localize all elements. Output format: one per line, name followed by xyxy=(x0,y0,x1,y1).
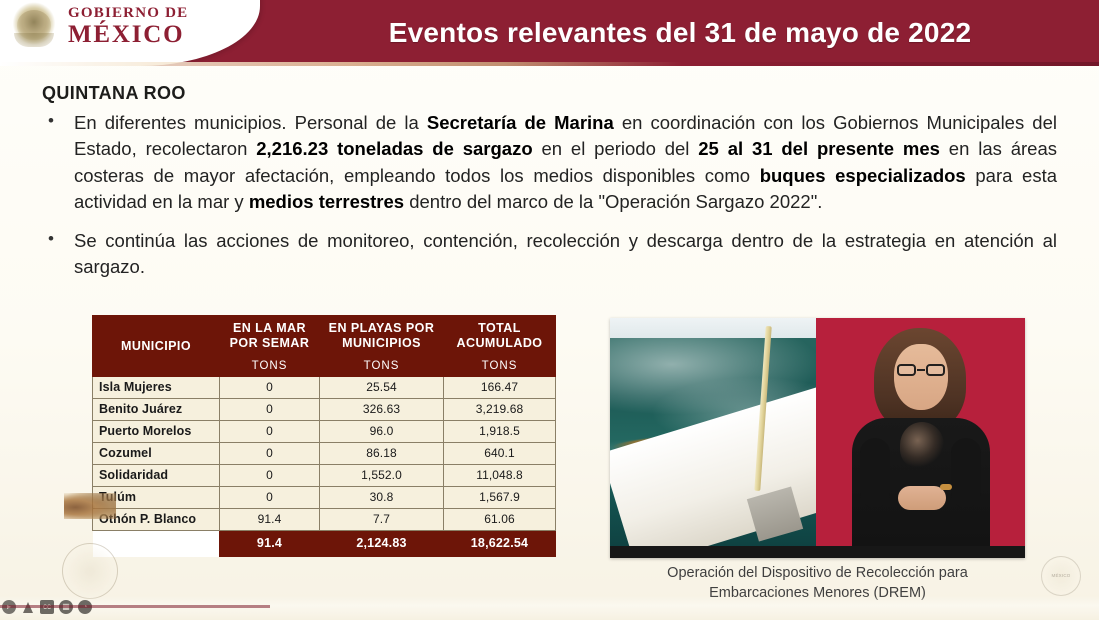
cell-en-la-mar: 0 xyxy=(220,399,320,421)
player-control-strip: ▸ cc ▦ ◔ xyxy=(0,596,1099,620)
column-header-en-la-mar: EN LA MAR POR SEMAR xyxy=(220,316,320,357)
interpreter-face xyxy=(894,344,948,410)
cell-en-playas: 326.63 xyxy=(320,399,444,421)
cell-total: 3,219.68 xyxy=(444,399,556,421)
table-header-row-groups: MUNICIPIO EN LA MAR POR SEMAR EN PLAYAS … xyxy=(93,316,556,357)
cell-en-playas: 96.0 xyxy=(320,421,444,443)
bullet-list: En diferentes municipios. Personal de la… xyxy=(42,110,1057,294)
cell-municipio: Puerto Morelos xyxy=(93,421,220,443)
cell-total-acumulado: 18,622.54 xyxy=(444,531,556,557)
video-sky xyxy=(610,318,816,340)
cell-total: 640.1 xyxy=(444,443,556,465)
bullet-item: En diferentes municipios. Personal de la… xyxy=(42,110,1057,215)
interpreter-bracelet xyxy=(940,484,952,490)
bullet-item: Se continúa las acciones de monitoreo, c… xyxy=(42,228,1057,281)
table-head: MUNICIPIO EN LA MAR POR SEMAR EN PLAYAS … xyxy=(93,316,556,377)
cell-total: 61.06 xyxy=(444,509,556,531)
cell-en-la-mar: 0 xyxy=(220,377,320,399)
cell-en-la-mar: 0 xyxy=(220,487,320,509)
cell-en-la-mar: 0 xyxy=(220,421,320,443)
cell-en-playas: 86.18 xyxy=(320,443,444,465)
cell-total: 166.47 xyxy=(444,377,556,399)
cell-en-playas: 30.8 xyxy=(320,487,444,509)
media-panel xyxy=(610,318,1025,558)
cell-en-la-mar: 91.4 xyxy=(220,509,320,531)
play-pause-control[interactable]: ▸ xyxy=(2,600,16,614)
table-row: Cozumel 0 86.18 640.1 xyxy=(93,443,556,465)
table-row: Isla Mujeres 0 25.54 166.47 xyxy=(93,377,556,399)
slide-header-bar: GOBIERNO DE MÉXICO Eventos relevantes de… xyxy=(0,0,1099,66)
cell-total-en-playas: 2,124.83 xyxy=(320,531,444,557)
fullscreen-control[interactable]: ◔ xyxy=(78,600,92,614)
brand-line-2: MÉXICO xyxy=(68,22,188,47)
volume-control[interactable] xyxy=(21,600,35,614)
column-unit-en-la-mar: TONS xyxy=(220,356,320,377)
interpreter-arm-right xyxy=(951,438,981,508)
cell-en-playas: 25.54 xyxy=(320,377,444,399)
table-row: Benito Juárez 0 326.63 3,219.68 xyxy=(93,399,556,421)
cell-total-label xyxy=(93,531,220,557)
government-brand-plate: GOBIERNO DE MÉXICO xyxy=(0,0,260,66)
column-unit-en-playas: TONS xyxy=(320,356,444,377)
cell-municipio: Othón P. Blanco xyxy=(93,509,220,531)
table-total-row: 91.4 2,124.83 18,622.54 xyxy=(93,531,556,557)
column-header-total-acumulado: TOTAL ACUMULADO xyxy=(444,316,556,357)
table-row: Othón P. Blanco 91.4 7.7 61.06 xyxy=(93,509,556,531)
cell-total: 1,567.9 xyxy=(444,487,556,509)
table-row: Puerto Morelos 0 96.0 1,918.5 xyxy=(93,421,556,443)
sargassum-collection-table: MUNICIPIO EN LA MAR POR SEMAR EN PLAYAS … xyxy=(92,315,556,557)
column-unit-total-acumulado: TONS xyxy=(444,356,556,377)
watermark-text: MÉXICO xyxy=(1052,573,1071,579)
table-row: Tulúm 0 30.8 1,567.9 xyxy=(93,487,556,509)
slide-content: QUINTANA ROO En diferentes municipios. P… xyxy=(0,66,1099,620)
page-title: Eventos relevantes del 31 de mayo de 202… xyxy=(290,0,1070,66)
column-header-en-playas: EN PLAYAS POR MUNICIPIOS xyxy=(320,316,444,357)
closed-caption-control[interactable]: cc xyxy=(40,600,54,614)
cell-municipio: Benito Juárez xyxy=(93,399,220,421)
table-body: Isla Mujeres 0 25.54 166.47 Benito Juáre… xyxy=(93,377,556,557)
government-watermark: MÉXICO xyxy=(1041,556,1081,596)
sign-language-interpreter-video xyxy=(816,318,1025,558)
interpreter-hands xyxy=(898,486,946,510)
media-caption-line-1: Operación del Dispositivo de Recolección… xyxy=(610,564,1025,584)
interpreter-arm-left xyxy=(860,438,890,508)
cell-total: 1,918.5 xyxy=(444,421,556,443)
cell-municipio: Cozumel xyxy=(93,443,220,465)
sargassum-table-container: MUNICIPIO EN LA MAR POR SEMAR EN PLAYAS … xyxy=(92,315,555,557)
mexican-eagle-emblem-icon xyxy=(8,0,60,52)
cell-en-la-mar: 0 xyxy=(220,465,320,487)
brand-wordmark: GOBIERNO DE MÉXICO xyxy=(68,6,188,47)
cell-en-playas: 1,552.0 xyxy=(320,465,444,487)
presentation-slide: GOBIERNO DE MÉXICO Eventos relevantes de… xyxy=(0,0,1099,620)
sargassum-boat-video xyxy=(610,318,816,558)
table-row: Solidaridad 0 1,552.0 11,048.8 xyxy=(93,465,556,487)
cell-en-la-mar: 0 xyxy=(220,443,320,465)
brand-line-1: GOBIERNO DE xyxy=(68,6,188,21)
media-base-bar xyxy=(610,546,1025,558)
cell-en-playas: 7.7 xyxy=(320,509,444,531)
eyeglasses-icon xyxy=(896,364,946,376)
cell-total-en-la-mar: 91.4 xyxy=(220,531,320,557)
cell-municipio: Isla Mujeres xyxy=(93,377,220,399)
cell-municipio: Tulúm xyxy=(93,487,220,509)
cell-total: 11,048.8 xyxy=(444,465,556,487)
interpreter-lace-top xyxy=(900,422,944,468)
player-controls[interactable]: ▸ cc ▦ ◔ xyxy=(2,600,92,614)
cell-municipio: Solidaridad xyxy=(93,465,220,487)
column-header-municipio: MUNICIPIO xyxy=(93,316,220,377)
state-heading: QUINTANA ROO xyxy=(42,83,186,104)
settings-control[interactable]: ▦ xyxy=(59,600,73,614)
